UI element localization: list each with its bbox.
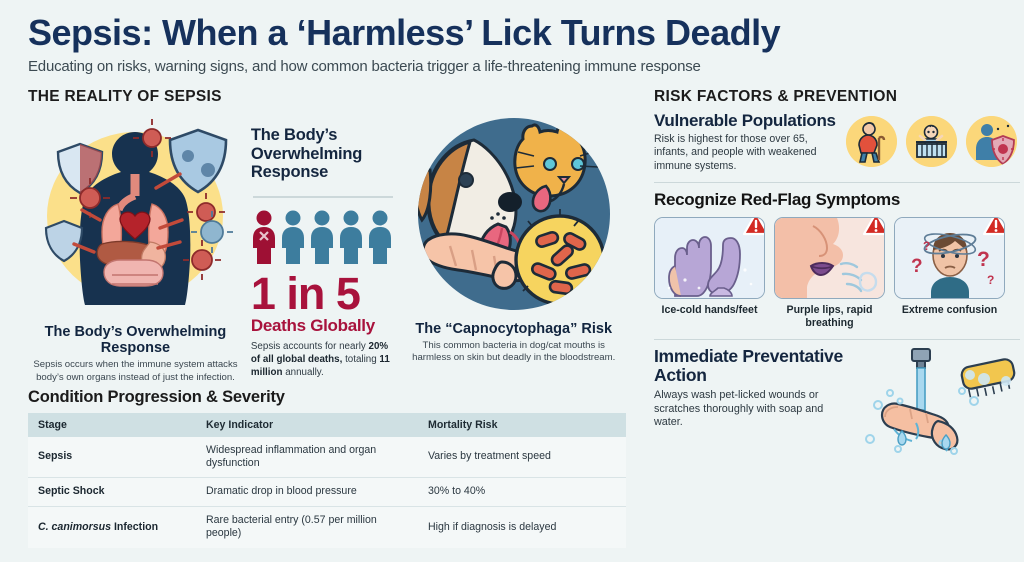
red-flag-caption: Ice-cold hands/feet [654,304,765,317]
left-column: THE REALITY OF SEPSIS [28,88,640,543]
red-flag-row: Ice-cold hands/feet [654,217,1020,329]
right-section-label: RISK FACTORS & PREVENTION [654,88,1020,106]
cell-indicator: Widespread inflammation and organ dysfun… [196,437,418,478]
cell-stage-species: C. canimorsus [38,521,111,533]
person-icon [367,210,393,264]
weakened-immunity-shield-icon [966,116,1017,167]
vulnerable-note: Risk is highest for those over 65, infan… [654,133,840,173]
stat-panel: The Body’s Overwhelming Response [251,112,396,380]
person-icon [338,210,364,264]
stat-note: Sepsis accounts for nearly 20% of all gl… [251,341,396,379]
warning-triangle-icon [982,217,1005,236]
table-body: Sepsis Widespread inflammation and organ… [28,437,626,548]
dog-cat-licking-hand-illustration [414,114,614,314]
capno-caption-title: The “Capnocytophaga” Risk [403,321,624,337]
stat-big-number: 1 in 5 [251,272,396,316]
red-flag-caption: Extreme confusion [894,304,1005,317]
stat-note-line1: Sepsis accounts for nearly [251,341,366,352]
person-icon [309,210,335,264]
table-header: Stage Key Indicator Mortality Risk [28,413,626,437]
content-columns: THE REALITY OF SEPSIS [28,88,1002,543]
red-flag-card [654,217,765,299]
stat-divider [253,196,394,198]
warning-triangle-icon [742,217,765,236]
cell-indicator: Rare bacterial entry (0.57 per million p… [196,506,418,547]
condition-table-section: Condition Progression & Severity Stage K… [28,388,628,548]
red-flag-title: Recognize Red-Flag Symptoms [654,190,1020,210]
action-title: Immediate Preventative Action [654,347,850,385]
body-caption-text: Sepsis occurs when the immune system att… [28,359,243,384]
table-row: Sepsis Widespread inflammation and organ… [28,437,626,478]
capnocytophaga-panel: The “Capnocytophaga” Risk This common ba… [403,112,624,365]
cell-mortality: High if diagnosis is delayed [418,506,626,547]
vulnerable-text: Vulnerable Populations Risk is highest f… [654,112,840,173]
person-icon [280,210,306,264]
page-subtitle: Educating on risks, warning signs, and h… [28,58,1002,75]
red-flag-caption: Purple lips, rapid breathing [774,304,885,329]
column-header-mortality-risk: Mortality Risk [418,413,626,437]
condition-progression-table: Stage Key Indicator Mortality Risk Sepsi… [28,413,626,548]
cell-stage-suffix: Infection [111,521,158,533]
vulnerable-populations-block: Vulnerable Populations Risk is highest f… [654,112,1020,173]
vulnerable-icon-row [846,112,1017,167]
people-icon-row [251,210,396,266]
person-dead-icon [251,210,277,264]
table-row: C. canimorsus Infection Rare bacterial e… [28,506,626,547]
page-title: Sepsis: When a ‘Harmless’ Lick Turns Dea… [28,14,1002,52]
table-row: Septic Shock Dramatic drop in blood pres… [28,478,626,506]
infographic-page: Sepsis: When a ‘Harmless’ Lick Turns Dea… [0,0,1024,562]
right-column: RISK FACTORS & PREVENTION Vulnerable Pop… [654,88,1020,543]
action-text: Immediate Preventative Action Always was… [654,347,850,430]
svg-text:?: ? [987,273,994,287]
warning-triangle-icon [862,217,885,236]
body-caption-title: The Body’s Overwhelming Response [28,324,243,356]
cell-stage: Sepsis [28,437,196,478]
stat-heading: The Body’s Overwhelming Response [251,126,396,182]
reality-row: The Body’s Overwhelming Response Sepsis … [28,112,624,384]
stat-big-label: Deaths Globally [251,316,396,336]
cell-stage: C. canimorsus Infection [28,506,196,547]
table-header-row: Stage Key Indicator Mortality Risk [28,413,626,437]
stat-note-line2-post: annually. [282,367,323,378]
red-flag-item: Purple lips, rapid breathing [774,217,885,329]
stat-note-line2-pre: totaling [345,354,379,365]
column-header-stage: Stage [28,413,196,437]
handwashing-with-soap-illustration [854,347,1020,459]
action-note: Always wash pet-licked wounds or scratch… [654,389,850,430]
column-header-key-indicator: Key Indicator [196,413,418,437]
cell-mortality: Varies by treatment speed [418,437,626,478]
svg-text:?: ? [977,248,990,271]
table-title: Condition Progression & Severity [28,388,628,407]
right-divider-1 [654,182,1020,184]
red-flag-item: ? ? ? ? Extreme confusion [894,217,1005,329]
immediate-action-block: Immediate Preventative Action Always was… [654,347,1020,459]
cell-mortality: 30% to 40% [418,478,626,506]
right-divider-2 [654,339,1020,341]
red-flag-item: Ice-cold hands/feet [654,217,765,329]
elderly-person-with-cane-icon [846,116,897,167]
left-section-label: THE REALITY OF SEPSIS [28,88,624,106]
human-body-immune-attack-illustration [30,112,240,317]
svg-text:?: ? [911,256,923,277]
vulnerable-title: Vulnerable Populations [654,112,840,130]
svg-text:?: ? [923,239,930,253]
infant-in-crib-icon [906,116,957,167]
capno-caption-text: This common bacteria in dog/cat mouths i… [403,340,624,365]
body-response-panel: The Body’s Overwhelming Response Sepsis … [28,112,243,384]
red-flag-card: ? ? ? ? [894,217,1005,299]
cell-stage: Septic Shock [28,478,196,506]
red-flag-card [774,217,885,299]
cell-indicator: Dramatic drop in blood pressure [196,478,418,506]
